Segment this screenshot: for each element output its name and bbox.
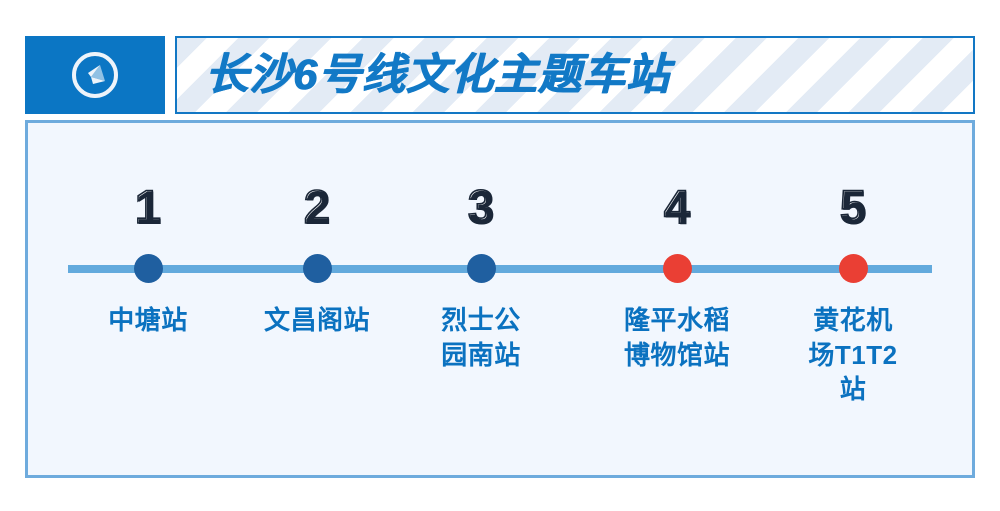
station-number-2: 2 <box>232 183 402 230</box>
station-dot-1[interactable] <box>134 254 163 283</box>
station-dot-2[interactable] <box>303 254 332 283</box>
station-label-2: 文昌阁站 <box>232 303 402 338</box>
station-label-line: 站 <box>768 372 938 407</box>
station-label-5: 黄花机 场T1T2 站 <box>768 303 938 407</box>
station-label-4: 隆平水稻 博物馆站 <box>592 303 762 372</box>
station-label-line: 烈士公 <box>396 303 566 338</box>
station-label-3: 烈士公 园南站 <box>396 303 566 372</box>
page-title: 长沙6号线文化主题车站 <box>205 54 670 97</box>
station-timeline: 1 中塘站 2 文昌阁站 3 烈士公 园南站 4 隆平水稻 博物馆站 5 <box>68 265 932 273</box>
station-dot-4[interactable] <box>663 254 692 283</box>
compass-icon <box>69 49 121 101</box>
station-dot-3[interactable] <box>467 254 496 283</box>
station-label-line: 博物馆站 <box>592 338 762 373</box>
station-label-line: 隆平水稻 <box>592 303 762 338</box>
station-number-5: 5 <box>768 183 938 230</box>
content-panel <box>25 120 975 478</box>
station-label-1: 中塘站 <box>63 303 233 338</box>
header-icon-box <box>25 36 165 114</box>
station-dot-5[interactable] <box>839 254 868 283</box>
station-number-3: 3 <box>396 183 566 230</box>
station-label-line: 场T1T2 <box>768 338 938 373</box>
station-number-1: 1 <box>63 183 233 230</box>
station-label-line: 园南站 <box>396 338 566 373</box>
station-label-line: 中塘站 <box>63 303 233 338</box>
station-label-line: 黄花机 <box>768 303 938 338</box>
header-title-box: 长沙6号线文化主题车站 <box>175 36 975 114</box>
station-label-line: 文昌阁站 <box>232 303 402 338</box>
header-bar: 长沙6号线文化主题车站 <box>25 36 975 114</box>
station-number-4: 4 <box>592 183 762 230</box>
